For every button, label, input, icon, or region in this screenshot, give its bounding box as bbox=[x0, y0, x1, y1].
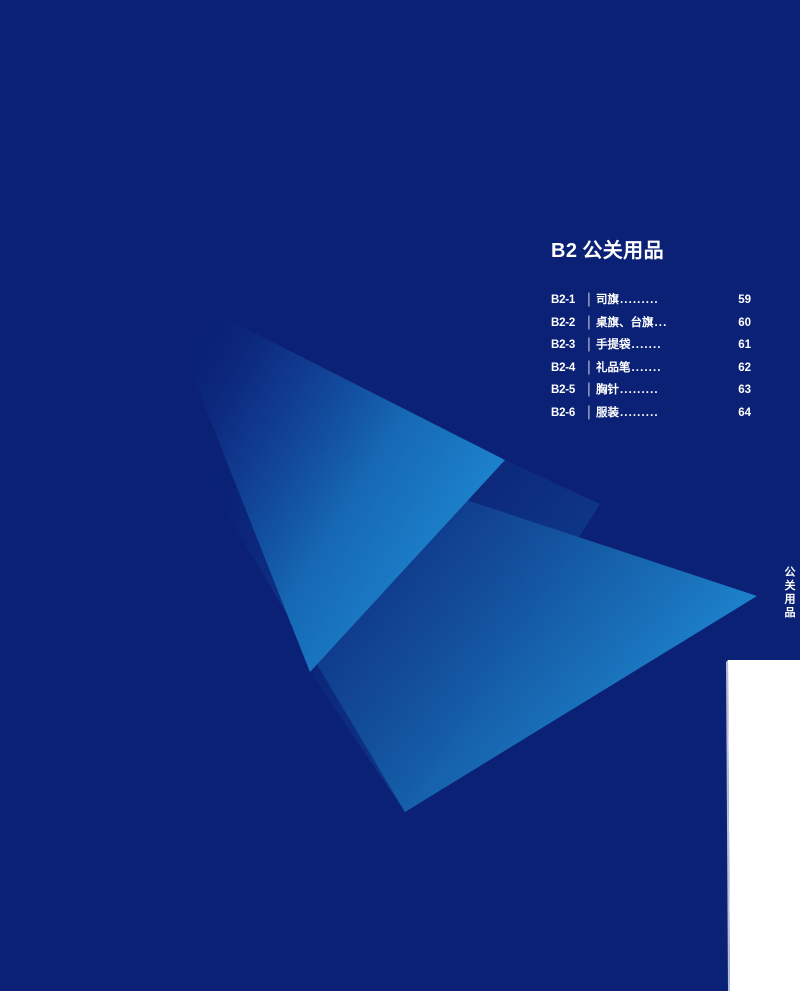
toc-item-label: 服装 bbox=[594, 404, 619, 420]
toc-item-code: B2-1 bbox=[551, 294, 585, 306]
page-title: B2公关用品 bbox=[551, 240, 751, 262]
toc-row[interactable]: B2-1 │ 司旗 ......... 59 bbox=[551, 291, 751, 314]
toc-item-code: B2-4 bbox=[551, 362, 585, 374]
toc-leader-dots: ... bbox=[654, 317, 739, 329]
toc-item-code: B2-5 bbox=[551, 384, 585, 396]
toc-item-page: 64 bbox=[738, 407, 751, 419]
catalog-section-divider-page: B2公关用品 B2-1 │ 司旗 ......... 59 B2-2 │ 桌旗、… bbox=[0, 0, 800, 991]
page-title-text: 公关用品 bbox=[582, 240, 664, 262]
chevron-upper bbox=[156, 283, 505, 672]
toc-item-label: 桌旗、台旗 bbox=[594, 314, 654, 330]
toc-item-label: 司旗 bbox=[594, 291, 619, 307]
toc-item-code: B2-3 bbox=[551, 339, 585, 351]
section-toc: B2公关用品 B2-1 │ 司旗 ......... 59 B2-2 │ 桌旗、… bbox=[551, 240, 751, 426]
toc-item-page: 60 bbox=[738, 317, 751, 329]
toc-separator: │ bbox=[585, 362, 594, 374]
chevron-lower bbox=[158, 398, 757, 812]
toc-row[interactable]: B2-5 │ 胸针 ......... 63 bbox=[551, 381, 751, 404]
page-title-code: B2 bbox=[551, 240, 577, 262]
toc-row[interactable]: B2-3 │ 手提袋 ....... 61 bbox=[551, 336, 751, 359]
toc-item-page: 63 bbox=[738, 384, 751, 396]
toc-list: B2-1 │ 司旗 ......... 59 B2-2 │ 桌旗、台旗 ... … bbox=[551, 291, 751, 426]
toc-leader-dots: ......... bbox=[619, 294, 738, 306]
toc-item-label: 胸针 bbox=[594, 381, 619, 397]
page-edge-notch bbox=[680, 0, 800, 991]
toc-separator: │ bbox=[585, 339, 594, 351]
toc-separator: │ bbox=[585, 384, 594, 396]
chevron-artwork bbox=[0, 0, 800, 991]
toc-leader-dots: ......... bbox=[619, 407, 738, 419]
toc-item-code: B2-6 bbox=[551, 407, 585, 419]
toc-item-label: 手提袋 bbox=[594, 336, 631, 352]
toc-row[interactable]: B2-6 │ 服装 ......... 64 bbox=[551, 404, 751, 427]
toc-item-code: B2-2 bbox=[551, 317, 585, 329]
toc-row[interactable]: B2-4 │ 礼品笔 ....... 62 bbox=[551, 359, 751, 382]
toc-separator: │ bbox=[585, 317, 594, 329]
toc-item-label: 礼品笔 bbox=[594, 359, 631, 375]
chevron-overlap bbox=[310, 460, 600, 812]
toc-item-page: 61 bbox=[738, 339, 751, 351]
toc-row[interactable]: B2-2 │ 桌旗、台旗 ... 60 bbox=[551, 314, 751, 337]
toc-item-page: 62 bbox=[738, 362, 751, 374]
toc-leader-dots: ....... bbox=[631, 339, 739, 351]
toc-leader-dots: ......... bbox=[619, 384, 738, 396]
toc-item-page: 59 bbox=[738, 294, 751, 306]
toc-separator: │ bbox=[585, 407, 594, 419]
toc-separator: │ bbox=[585, 294, 594, 306]
toc-leader-dots: ....... bbox=[631, 362, 739, 374]
side-tab-label: 公关用品 bbox=[774, 566, 794, 620]
